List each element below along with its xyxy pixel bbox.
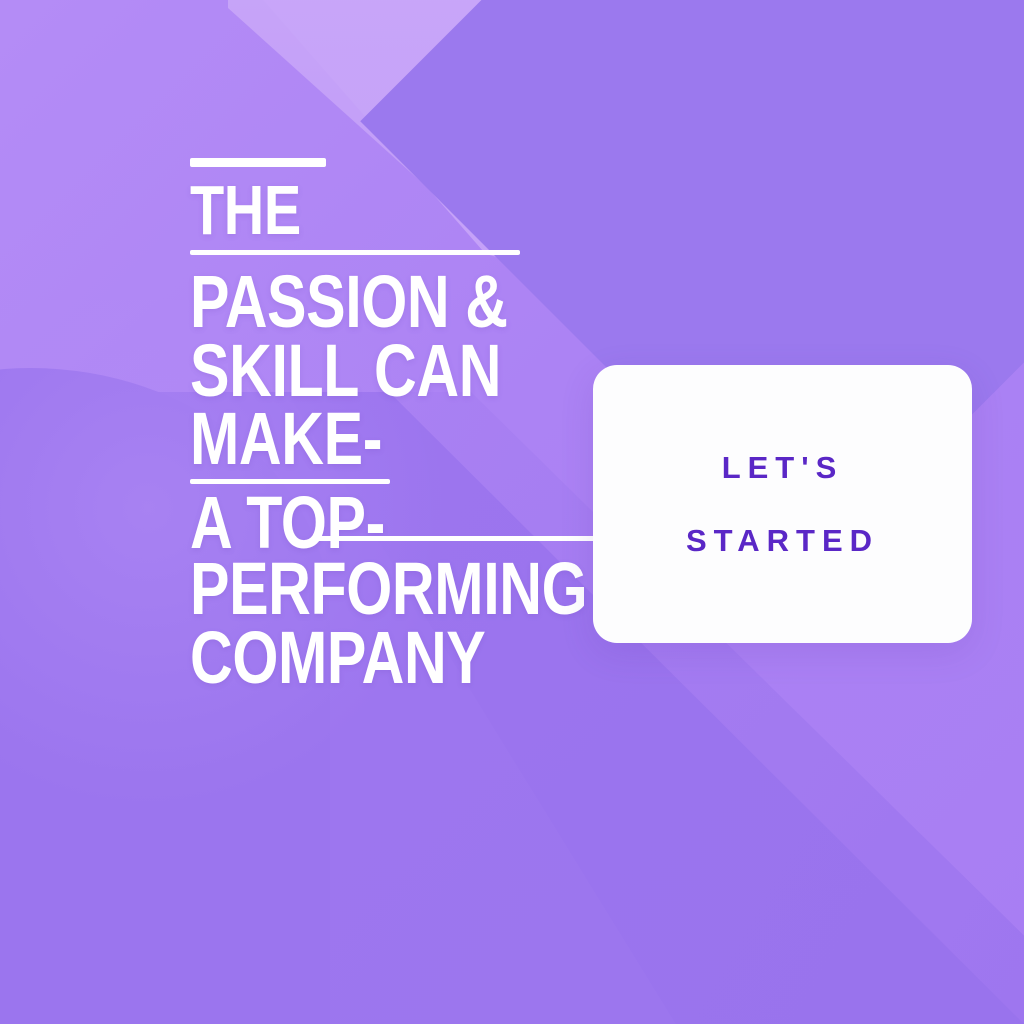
headline-line-the: THE — [190, 179, 710, 242]
rule-under-the — [190, 250, 520, 255]
rule-top — [190, 158, 326, 167]
cta-card-lets-started[interactable]: LET'S STARTED — [593, 365, 972, 643]
headline-text-make: MAKE- — [190, 406, 606, 473]
headline-line-passion: PASSION & — [190, 269, 710, 336]
headline-text-skill: SKILL CAN — [190, 338, 606, 405]
headline-text-performing: PERFORMING — [190, 556, 606, 623]
promo-poster: THE PASSION & SKILL CAN MAKE- A TOP- PER… — [0, 0, 1024, 1024]
headline-text-atop: A TOP- — [190, 490, 385, 557]
headline-text-company: COMPANY — [190, 625, 606, 692]
cta-label-lets: LET'S — [722, 452, 844, 483]
rule-after-atop — [316, 536, 606, 541]
headline-text-the: THE — [190, 179, 606, 242]
cta-label-started: STARTED — [686, 525, 879, 556]
headline-text-passion: PASSION & — [190, 269, 606, 336]
